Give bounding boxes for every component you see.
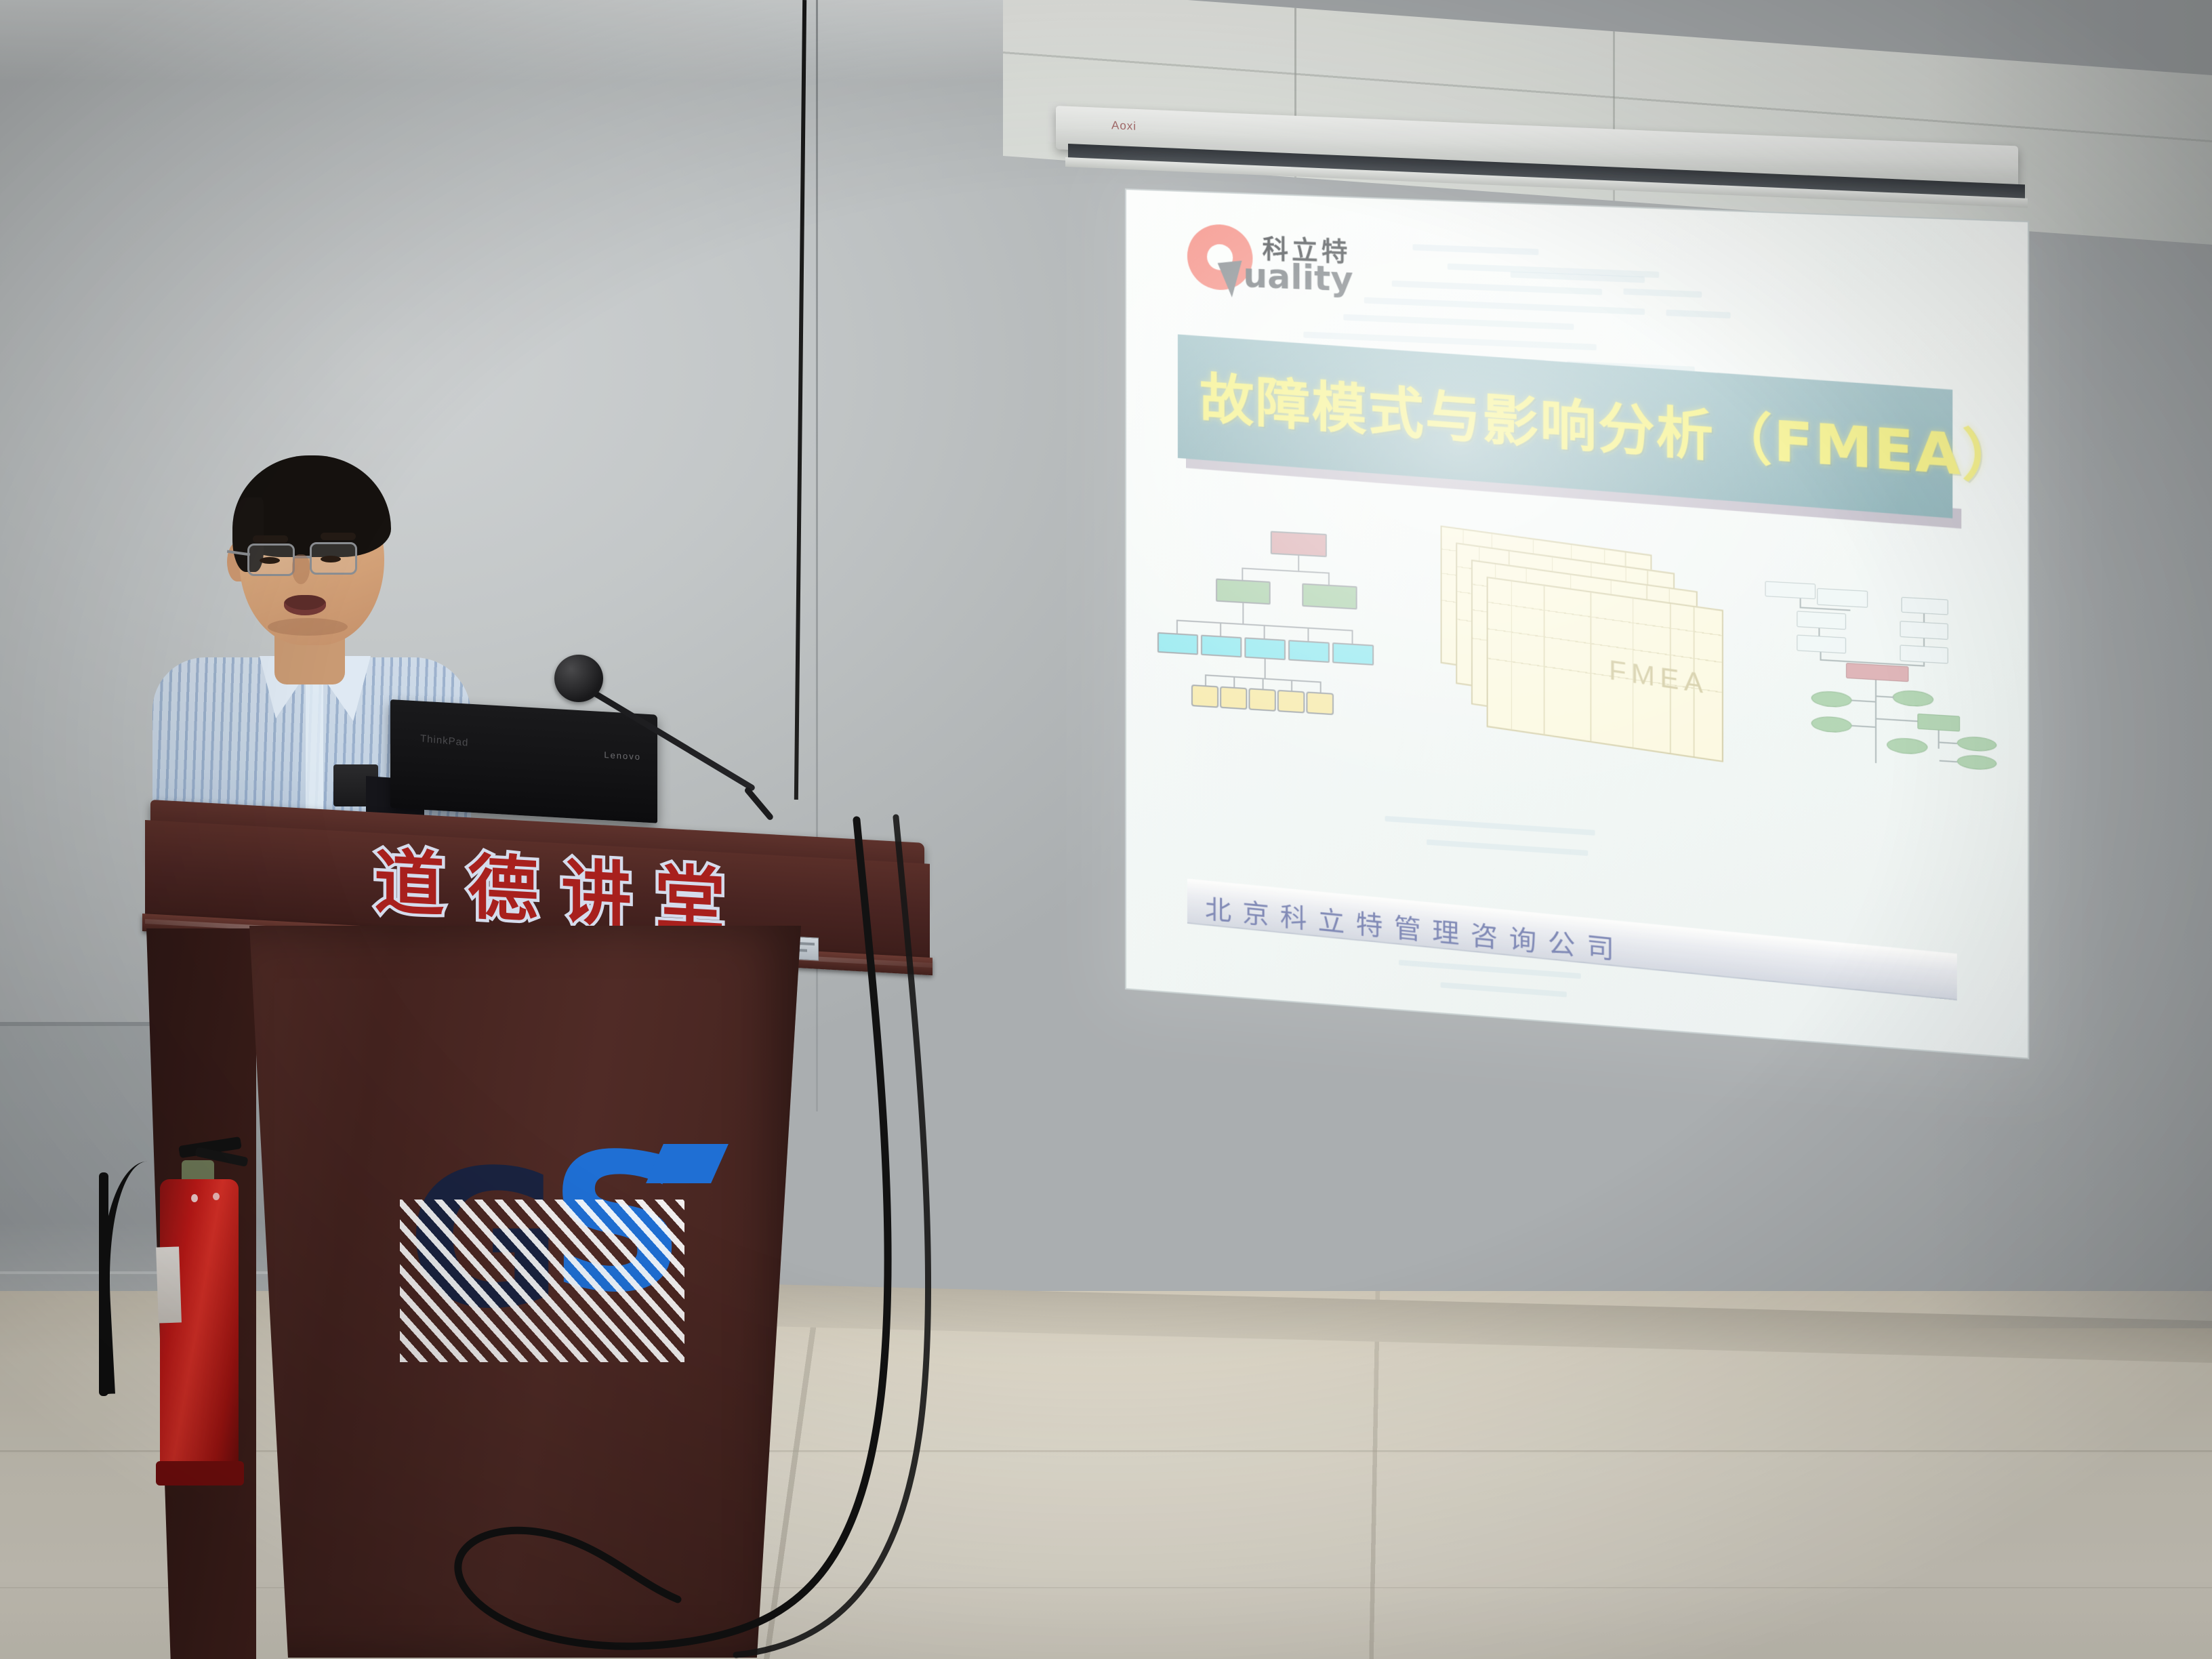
tree-diagram	[1167, 523, 1463, 766]
tree-connector	[1328, 573, 1330, 585]
tree-connector	[1242, 568, 1243, 580]
flow-connector	[1877, 695, 1894, 698]
projection-screen[interactable]: 科立特 uality 故障模式与影响分析（FMEA）	[1125, 188, 2029, 1059]
flow-ellipse	[1957, 736, 1997, 753]
flow-connector	[1923, 662, 1925, 666]
presenter-mouth	[284, 595, 326, 615]
presenter-nose	[292, 554, 310, 584]
presenter-brow-left	[253, 535, 288, 543]
slide-watermark	[1623, 288, 1702, 298]
flow-box	[1900, 621, 1948, 640]
extinguisher-hose-lower	[99, 1172, 108, 1396]
flow-ellipse	[1811, 716, 1852, 733]
slide-watermark	[1399, 960, 1581, 979]
flow-connector	[1800, 607, 1851, 611]
tree-node-level3	[1244, 637, 1286, 660]
slide-surface: 科立特 uality 故障模式与影响分析（FMEA）	[1125, 188, 2029, 1059]
flow-box	[1817, 588, 1868, 608]
slide-watermark	[1441, 982, 1567, 997]
flow-ellipse	[1811, 690, 1852, 708]
tree-connector	[1176, 619, 1178, 633]
tree-connector	[1264, 625, 1265, 638]
tree-connector	[1233, 676, 1235, 687]
extinguisher-label	[156, 1246, 182, 1323]
slide-watermark	[1666, 310, 1731, 319]
flow-connector	[1852, 725, 1877, 728]
fmea-sheet-front: FMEA	[1487, 577, 1723, 762]
roller-brand-label: Aoxi	[1111, 119, 1136, 134]
gs-logo-letter-g: G	[407, 1152, 562, 1328]
tree-connector	[1263, 678, 1264, 689]
slide-watermark	[1343, 314, 1574, 330]
flow-box	[1765, 581, 1816, 599]
flow-box-highlight	[1846, 663, 1908, 682]
flow-box	[1797, 611, 1846, 630]
tree-connector	[1352, 630, 1353, 643]
laptop-thinkpad-logo: ThinkPad	[420, 733, 469, 749]
tree-connector	[1298, 556, 1299, 572]
tree-node-level2	[1216, 578, 1271, 605]
laptop-vendor-logo: Lenovo	[604, 750, 641, 762]
flow-connector	[1923, 614, 1925, 623]
tree-connector	[1320, 681, 1322, 692]
flow-ellipse	[1887, 737, 1927, 756]
tree-connector	[1205, 674, 1206, 685]
flow-box	[1900, 644, 1948, 663]
extinguisher-highlight	[213, 1193, 220, 1200]
flow-connector	[1940, 760, 1957, 762]
flow-spine	[1875, 680, 1877, 763]
presenter-eye-left	[260, 557, 280, 564]
tree-node-level4	[1248, 688, 1275, 712]
flow-connector	[1877, 718, 1917, 722]
tree-node-level4	[1277, 690, 1305, 714]
tree-node-level3	[1288, 640, 1330, 663]
laptop[interactable]: ThinkPad Lenovo	[390, 699, 657, 823]
tree-node-level3	[1158, 632, 1198, 655]
tree-connector	[1291, 680, 1292, 691]
flow-connector	[1940, 741, 1957, 744]
flow-connector	[1852, 699, 1877, 702]
flow-box	[1797, 635, 1846, 654]
tree-node-level4	[1306, 691, 1334, 715]
presenter-eye-right	[321, 556, 341, 562]
logo-english-name: uality	[1243, 255, 1353, 300]
wall-upper-highlight	[0, 0, 1152, 81]
tree-connector	[1242, 603, 1244, 625]
extinguisher-base	[156, 1461, 244, 1486]
slide-watermark	[1392, 281, 1602, 295]
lecture-hall-scene: Aoxi	[0, 0, 2212, 1659]
slide-watermark	[1412, 244, 1538, 255]
tree-connector	[1242, 568, 1330, 574]
flow-connector	[1938, 731, 1940, 749]
tree-node-root	[1271, 531, 1327, 557]
tree-node-level3	[1201, 635, 1242, 658]
tree-connector	[1220, 622, 1221, 636]
tree-node-level4	[1191, 684, 1218, 708]
tree-node-level4	[1220, 687, 1247, 710]
flow-box	[1917, 714, 1960, 732]
flow-ellipse	[1893, 689, 1933, 708]
presenter-brow-right	[321, 533, 356, 540]
tree-node-level3	[1332, 642, 1374, 665]
presenter-chin-shadow	[268, 618, 348, 636]
microphone-head-icon[interactable]	[554, 655, 603, 702]
slide-logo: 科立特 uality	[1187, 220, 1393, 309]
slide-graphics-row: FMEA	[1125, 507, 2029, 853]
fault-tree-flowchart	[1759, 550, 2007, 811]
tree-connector	[1265, 659, 1266, 679]
tree-node-level2	[1302, 583, 1357, 610]
fmea-worksheet-stack: FMEA	[1441, 527, 1745, 795]
slide-watermark	[1427, 839, 1588, 856]
extinguisher-highlight	[191, 1194, 198, 1202]
podium-gs-logo: G S	[407, 1152, 745, 1362]
flow-ellipse	[1957, 754, 1997, 771]
slide-watermark	[1364, 297, 1645, 314]
flow-box	[1902, 597, 1948, 615]
fire-extinguisher	[160, 1179, 239, 1477]
tree-connector	[1307, 628, 1309, 641]
